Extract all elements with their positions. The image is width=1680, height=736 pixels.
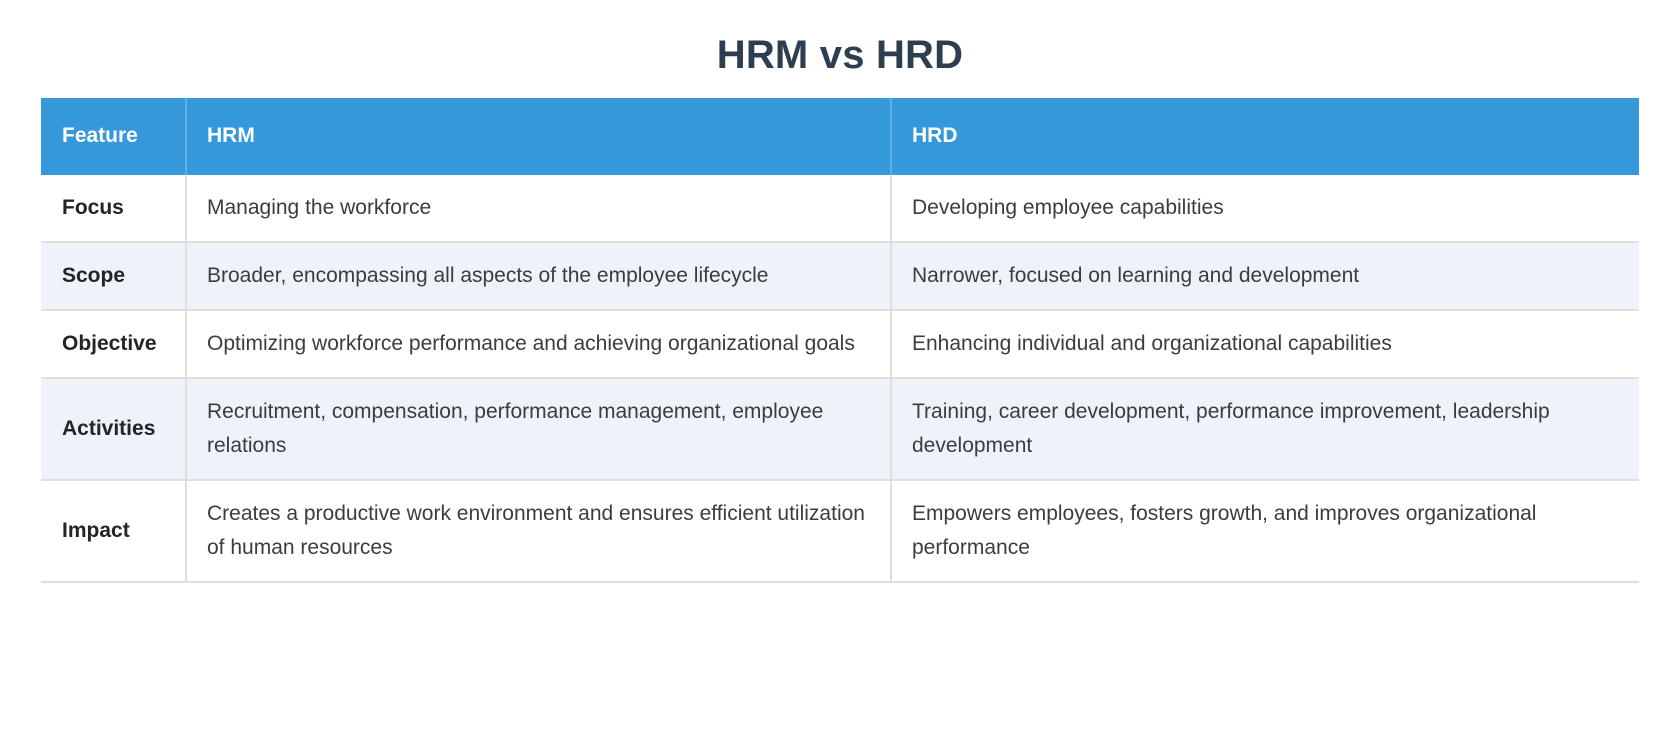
table-header-row: Feature HRM HRD [41, 98, 1639, 175]
table-header: Feature HRM HRD [41, 98, 1639, 175]
cell-hrd: Empowers employees, fosters growth, and … [891, 480, 1639, 582]
cell-hrd: Enhancing individual and organizational … [891, 310, 1639, 378]
table-row: Objective Optimizing workforce performan… [41, 310, 1639, 378]
cell-hrm: Creates a productive work environment an… [186, 480, 891, 582]
page-title: HRM vs HRD [0, 0, 1680, 81]
hrm-vs-hrd-table: Feature HRM HRD Focus Managing the workf… [41, 98, 1639, 583]
cell-feature: Focus [41, 175, 186, 242]
cell-hrm: Optimizing workforce performance and ach… [186, 310, 891, 378]
table-row: Activities Recruitment, compensation, pe… [41, 378, 1639, 480]
table-body: Focus Managing the workforce Developing … [41, 175, 1639, 582]
cell-hrm: Managing the workforce [186, 175, 891, 242]
comparison-table-container: Feature HRM HRD Focus Managing the workf… [41, 98, 1639, 583]
cell-feature: Activities [41, 378, 186, 480]
cell-hrm: Broader, encompassing all aspects of the… [186, 242, 891, 310]
column-header-feature: Feature [41, 98, 186, 175]
cell-hrd: Narrower, focused on learning and develo… [891, 242, 1639, 310]
cell-hrd: Training, career development, performanc… [891, 378, 1639, 480]
table-row: Scope Broader, encompassing all aspects … [41, 242, 1639, 310]
cell-feature: Impact [41, 480, 186, 582]
page-root: HRM vs HRD Feature HRM HRD Focus Managin… [0, 0, 1680, 736]
cell-feature: Objective [41, 310, 186, 378]
cell-hrd: Developing employee capabilities [891, 175, 1639, 242]
cell-hrm: Recruitment, compensation, performance m… [186, 378, 891, 480]
column-header-hrm: HRM [186, 98, 891, 175]
table-row: Impact Creates a productive work environ… [41, 480, 1639, 582]
column-header-hrd: HRD [891, 98, 1639, 175]
table-row: Focus Managing the workforce Developing … [41, 175, 1639, 242]
cell-feature: Scope [41, 242, 186, 310]
